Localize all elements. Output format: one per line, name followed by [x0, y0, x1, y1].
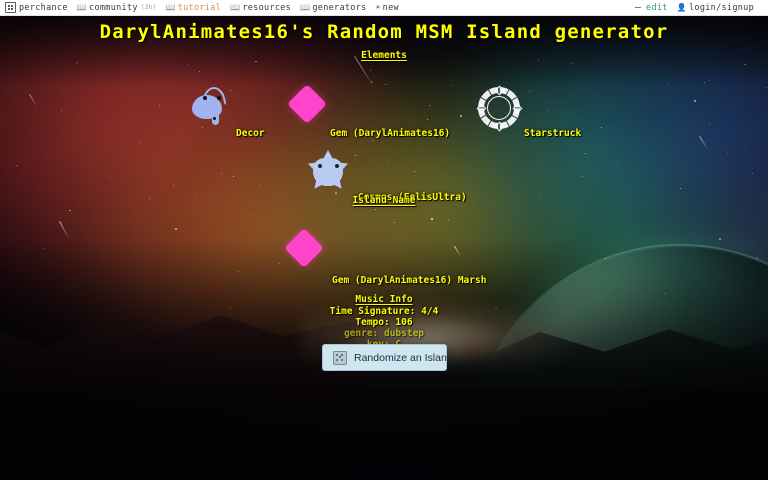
book-icon: 📖	[300, 4, 310, 12]
nav-brand-label: perchance	[19, 3, 68, 13]
dice-icon	[333, 351, 347, 365]
section-heading-island-name: Island Name	[0, 195, 768, 206]
nav-item-resources[interactable]: 📖 resources	[230, 3, 291, 13]
top-navigation-bar: perchance 📖 community (2h) 📖 tutorial 📖 …	[0, 0, 768, 16]
gem-diamond-icon	[284, 228, 324, 268]
decor-knob-left	[203, 96, 207, 100]
decor-knob-stem	[213, 117, 216, 120]
nav-item-new-label: new	[383, 3, 399, 13]
edit-dash-icon	[635, 7, 641, 9]
nav-item-community-sub: (2h)	[141, 4, 157, 11]
randomize-island-button[interactable]: Randomize an Island	[322, 344, 447, 371]
nav-item-login-signup[interactable]: 👤 login/signup	[677, 3, 754, 13]
nav-right-group: edit 👤 login/signup	[635, 3, 763, 13]
cosmos-eye-right	[335, 164, 339, 168]
book-icon: 📖	[230, 4, 240, 12]
page-title: DarylAnimates16's Random MSM Island gene…	[0, 21, 768, 43]
cosmos-star-icon	[308, 150, 348, 190]
music-genre: genre: dubstep	[0, 328, 768, 339]
book-icon: 📖	[165, 4, 175, 12]
decor-knob-right	[217, 96, 221, 100]
element-caption-starstruck: Starstruck	[524, 128, 581, 139]
nav-item-generators[interactable]: 📖 generators	[300, 3, 366, 13]
decor-mushroom-icon	[191, 85, 231, 129]
generator-content: DarylAnimates16's Random MSM Island gene…	[0, 16, 768, 480]
nav-item-community-label: community	[89, 3, 138, 13]
book-icon: 📖	[77, 4, 87, 12]
nav-item-new[interactable]: ☀ new	[376, 3, 399, 13]
nav-item-edit-label: edit	[646, 3, 668, 13]
cosmos-eye-left	[318, 164, 322, 168]
music-time-signature: Time Signature: 4/4	[0, 306, 768, 317]
gem-diamond-icon	[287, 84, 327, 124]
nav-item-resources-label: resources	[242, 3, 291, 13]
music-tempo: Tempo: 106	[0, 317, 768, 328]
element-caption-decor: Decor	[236, 128, 265, 139]
nav-item-tutorial[interactable]: 📖 tutorial	[165, 3, 221, 13]
cosmos-round-body	[313, 158, 343, 186]
section-heading-elements: Elements	[0, 50, 768, 61]
nav-item-generators-label: generators	[312, 3, 366, 13]
element-caption-gem: Gem (DarylAnimates16)	[330, 128, 450, 139]
nav-brand-perchance[interactable]: perchance	[5, 2, 68, 13]
person-icon: 👤	[677, 4, 687, 12]
globe-icon: ☀	[376, 4, 381, 12]
nav-item-community[interactable]: 📖 community (2h)	[77, 3, 157, 13]
nav-item-tutorial-label: tutorial	[178, 3, 221, 13]
section-heading-music-info: Music Info	[0, 294, 768, 305]
perchance-logo-icon	[5, 2, 16, 13]
nav-item-login-signup-label: login/signup	[689, 3, 754, 13]
starstruck-ring-icon	[478, 87, 520, 129]
island-name-value: Gem (DarylAnimates16) Marsh	[332, 275, 486, 286]
nav-item-edit[interactable]: edit	[635, 3, 668, 13]
randomize-island-label: Randomize an Island	[354, 352, 453, 364]
